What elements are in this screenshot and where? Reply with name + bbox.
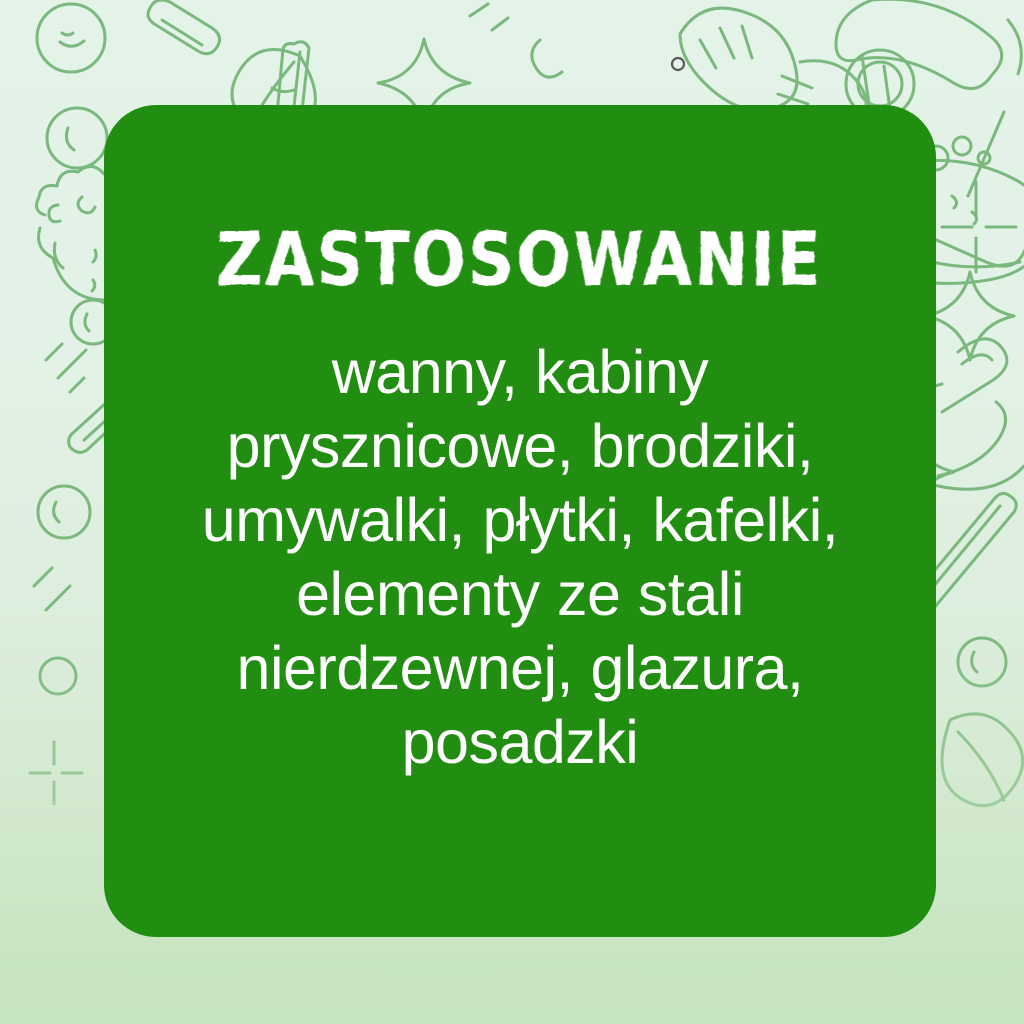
soap-bubble-icon <box>38 486 90 538</box>
sparkle-icon <box>30 742 82 804</box>
soap-bubble-icon <box>47 108 107 168</box>
soap-bubble-icon <box>40 658 76 694</box>
soap-bubble-icon <box>672 58 684 70</box>
content-card: ZASTOSOWANIE wanny, kabiny prysznicowe, … <box>104 105 936 937</box>
scrub-brush-icon <box>148 0 220 54</box>
leaf-icon <box>942 714 1023 806</box>
bucket-icon <box>1008 20 1021 74</box>
application-description-text: wanny, kabiny prysznicowe, brodziki, umy… <box>170 335 870 779</box>
page-title: ZASTOSOWANIE <box>216 223 823 297</box>
soap-bubble-icon <box>958 638 1006 686</box>
spray-bottle-icon <box>680 8 914 120</box>
shine-lines-icon <box>46 344 86 392</box>
shine-lines-icon <box>34 568 70 610</box>
shine-lines-icon <box>470 4 508 30</box>
soap-bubble-icon <box>37 4 105 72</box>
